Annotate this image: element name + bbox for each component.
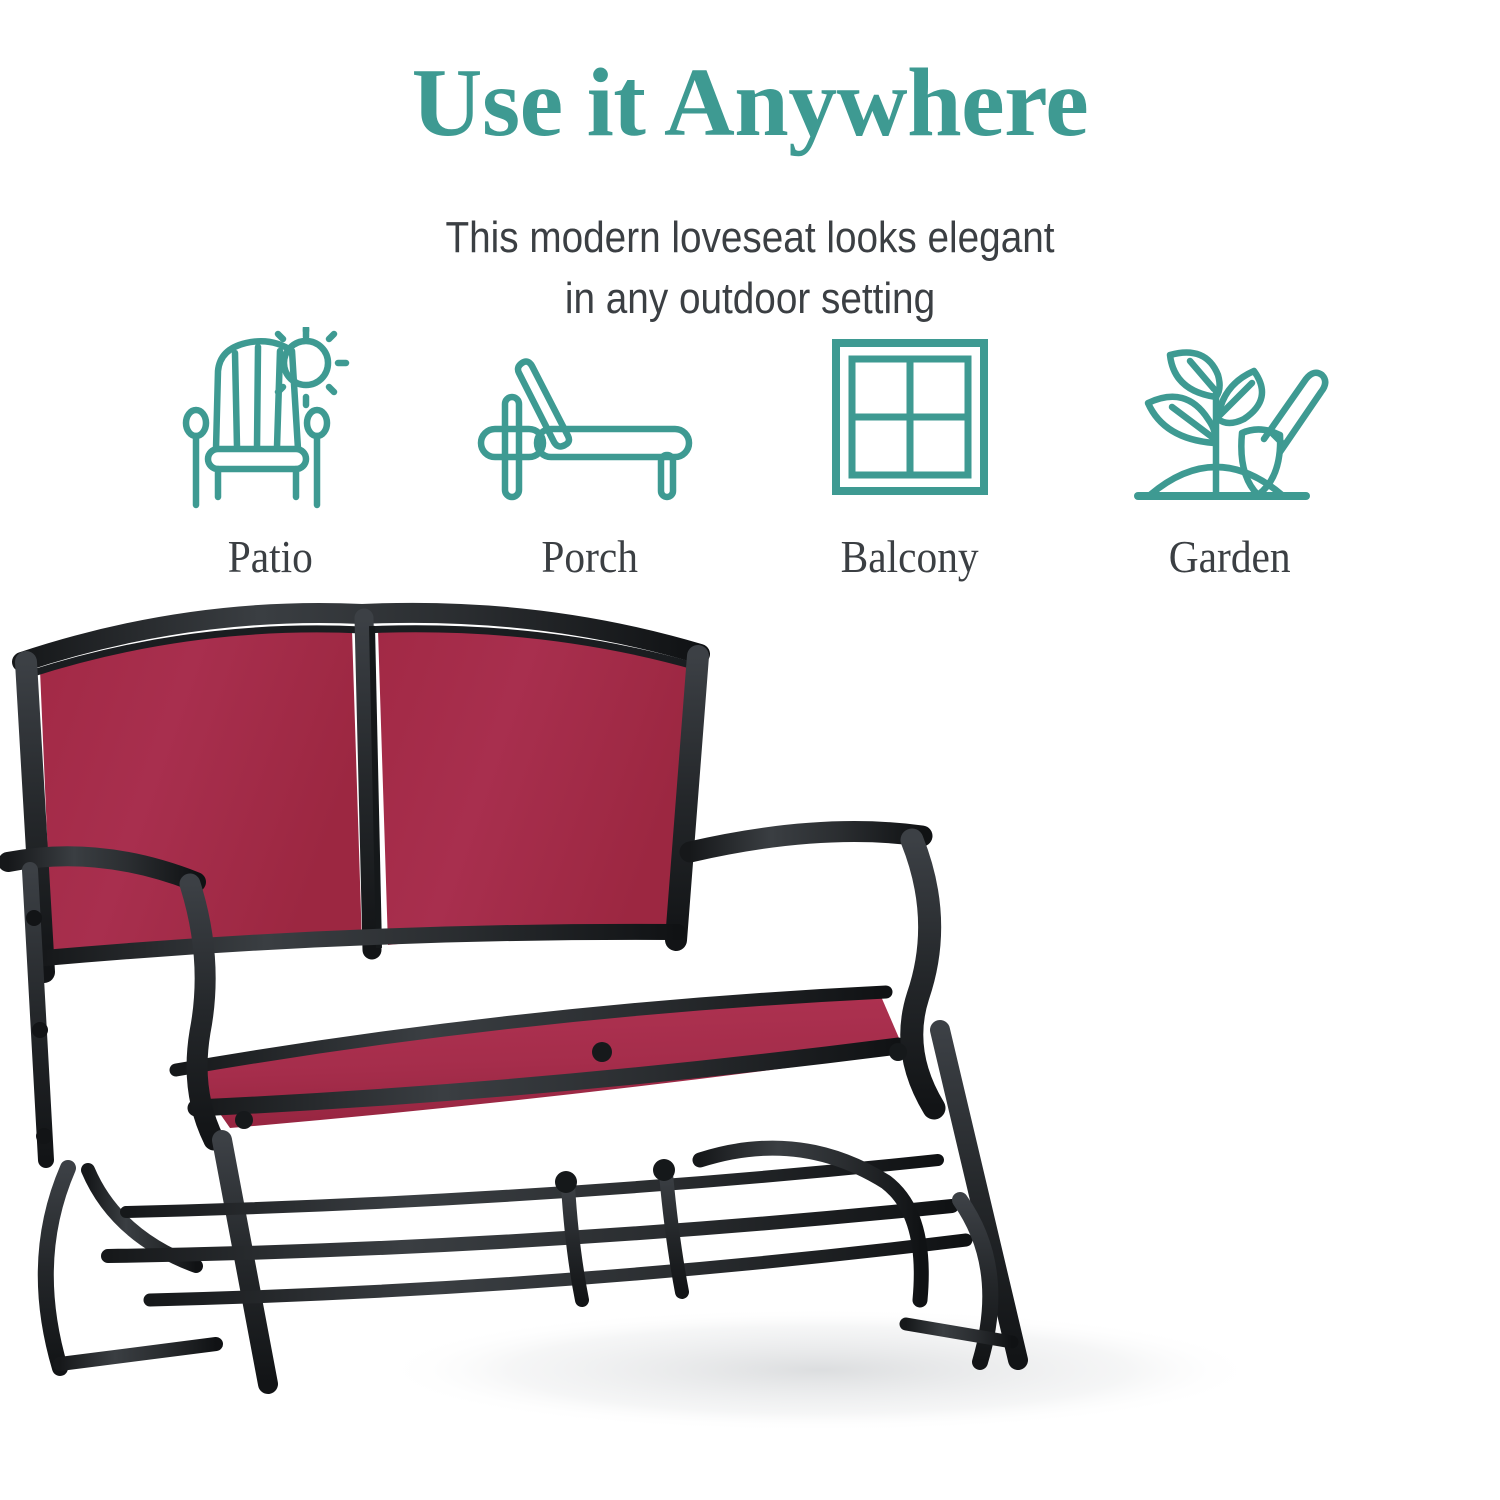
- armrest-right-support: [912, 840, 934, 1108]
- subtitle-line-1: This modern loveseat looks elegant: [90, 208, 1410, 269]
- lounge-chair-icon: [475, 322, 705, 512]
- left-runner-foot: [60, 1344, 216, 1364]
- page-title: Use it Anywhere: [0, 54, 1500, 152]
- right-rear-leg: [940, 1030, 1018, 1360]
- use-case-item-patio: Patio: [110, 322, 430, 580]
- use-case-item-garden: Garden: [1070, 322, 1390, 580]
- marketing-infographic: Use it Anywhere This modern loveseat loo…: [0, 0, 1500, 1500]
- use-case-label-porch: Porch: [542, 534, 639, 580]
- seat-bracket-left: [235, 1111, 253, 1129]
- use-case-label-balcony: Balcony: [841, 534, 979, 580]
- pivot-bolt-left: [555, 1171, 577, 1193]
- adirondack-chair-sun-icon: [180, 322, 360, 512]
- subtitle: This modern loveseat looks elegant in an…: [90, 208, 1410, 329]
- stretcher-bar-rear: [126, 1160, 938, 1212]
- use-case-label-patio: Patio: [227, 534, 312, 580]
- seat-bracket-center: [592, 1042, 612, 1062]
- plant-trowel-icon: [1130, 322, 1330, 512]
- left-post-bolt-upper: [26, 910, 42, 926]
- left-runner-arc: [46, 1168, 68, 1368]
- use-case-item-porch: Porch: [430, 322, 750, 580]
- product-photo-glider-loveseat: [0, 600, 1500, 1500]
- use-case-label-garden: Garden: [1169, 534, 1291, 580]
- subtitle-line-2: in any outdoor setting: [90, 269, 1410, 330]
- seat-bracket-right: [889, 1043, 907, 1061]
- left-post-bolt-lower: [36, 1128, 52, 1144]
- backrest-fabric-right: [378, 630, 690, 945]
- window-icon: [826, 322, 994, 512]
- use-case-item-balcony: Balcony: [750, 322, 1070, 580]
- armrest-right-top: [690, 832, 922, 852]
- product-shadow: [380, 1308, 1260, 1432]
- use-case-icon-row: Patio Porch: [110, 322, 1390, 592]
- left-post-bolt-mid: [32, 1022, 48, 1038]
- armrest-left-support: [190, 884, 214, 1140]
- left-front-leg: [222, 1140, 268, 1384]
- pivot-bolt-right: [653, 1159, 675, 1181]
